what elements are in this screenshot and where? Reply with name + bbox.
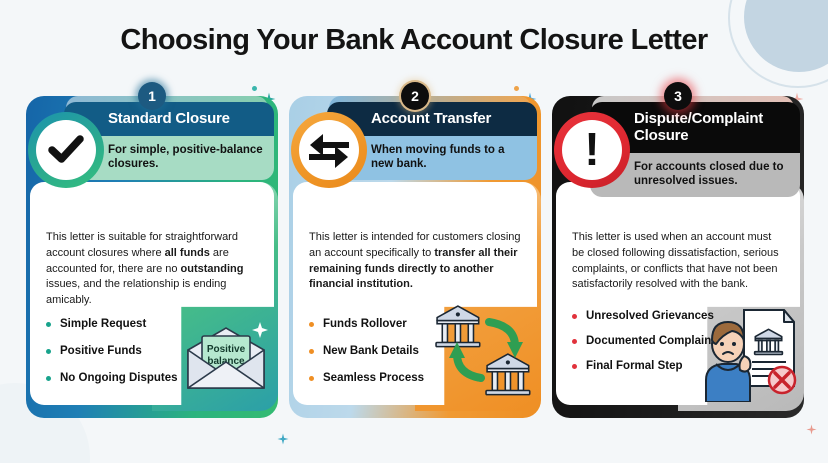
sparkle-icon	[806, 424, 817, 435]
card-standard-closure[interactable]: Standard Closure For simple, positive-ba…	[26, 96, 278, 418]
sparkle-dot	[514, 86, 519, 91]
check-mark-icon	[28, 112, 104, 188]
list-item: Funds Rollover	[309, 318, 477, 332]
card-account-transfer[interactable]: Account Transfer When moving funds to a …	[289, 96, 541, 418]
card-dispute-complaint-closure[interactable]: Dispute/Complaint Closure For accounts c…	[552, 96, 804, 418]
card-description: This letter is suitable for straightforw…	[46, 230, 260, 309]
page-title: Choosing Your Bank Account Closure Lette…	[0, 24, 828, 57]
list-item: No Ongoing Disputes	[46, 372, 214, 386]
list-item: Documented Complaints	[572, 335, 752, 349]
card-bullet-list: Simple Request Positive Funds No Ongoing…	[46, 318, 214, 398]
card-number-badge: 2	[401, 82, 429, 110]
list-item: Positive Funds	[46, 345, 214, 359]
list-item: Simple Request	[46, 318, 214, 332]
sparkle-icon	[277, 433, 289, 445]
list-item: Final Formal Step	[572, 360, 752, 374]
sparkle-dot	[252, 86, 257, 91]
card-description: This letter is used when an account must…	[572, 230, 786, 293]
exclamation-mark-icon: !	[554, 112, 630, 188]
card-number-badge: 1	[138, 82, 166, 110]
infographic-canvas: Choosing Your Bank Account Closure Lette…	[0, 0, 828, 463]
list-item: New Bank Details	[309, 345, 477, 359]
list-item: Seamless Process	[309, 372, 477, 386]
two-way-arrows-icon	[291, 112, 367, 188]
card-number-badge: 3	[664, 82, 692, 110]
list-item: Unresolved Grievances	[572, 310, 752, 324]
card-bullet-list: Unresolved Grievances Documented Complai…	[572, 310, 752, 384]
card-description: This letter is intended for customers cl…	[309, 230, 523, 293]
card-bullet-list: Funds Rollover New Bank Details Seamless…	[309, 318, 477, 398]
